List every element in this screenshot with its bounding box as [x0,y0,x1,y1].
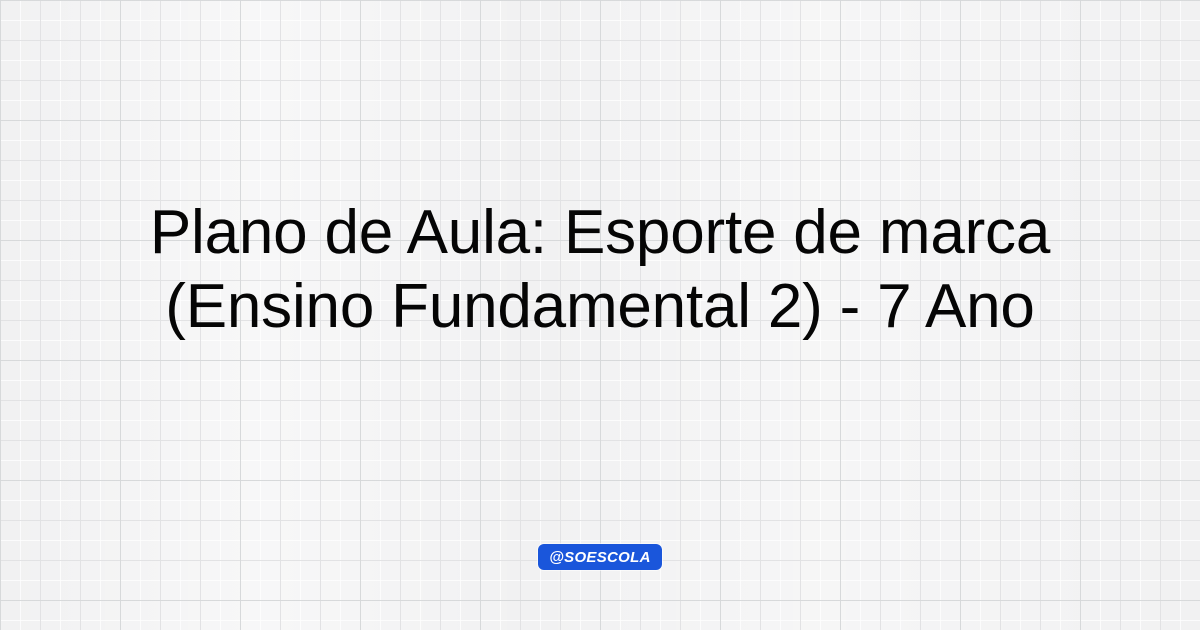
title-block: Plano de Aula: Esporte de marca (Ensino … [70,196,1130,344]
og-card: Plano de Aula: Esporte de marca (Ensino … [0,0,1200,630]
watermark-row: @SOESCOLA [0,544,1200,570]
page-title: Plano de Aula: Esporte de marca (Ensino … [70,196,1130,344]
soescola-watermark-badge: @SOESCOLA [538,544,662,570]
